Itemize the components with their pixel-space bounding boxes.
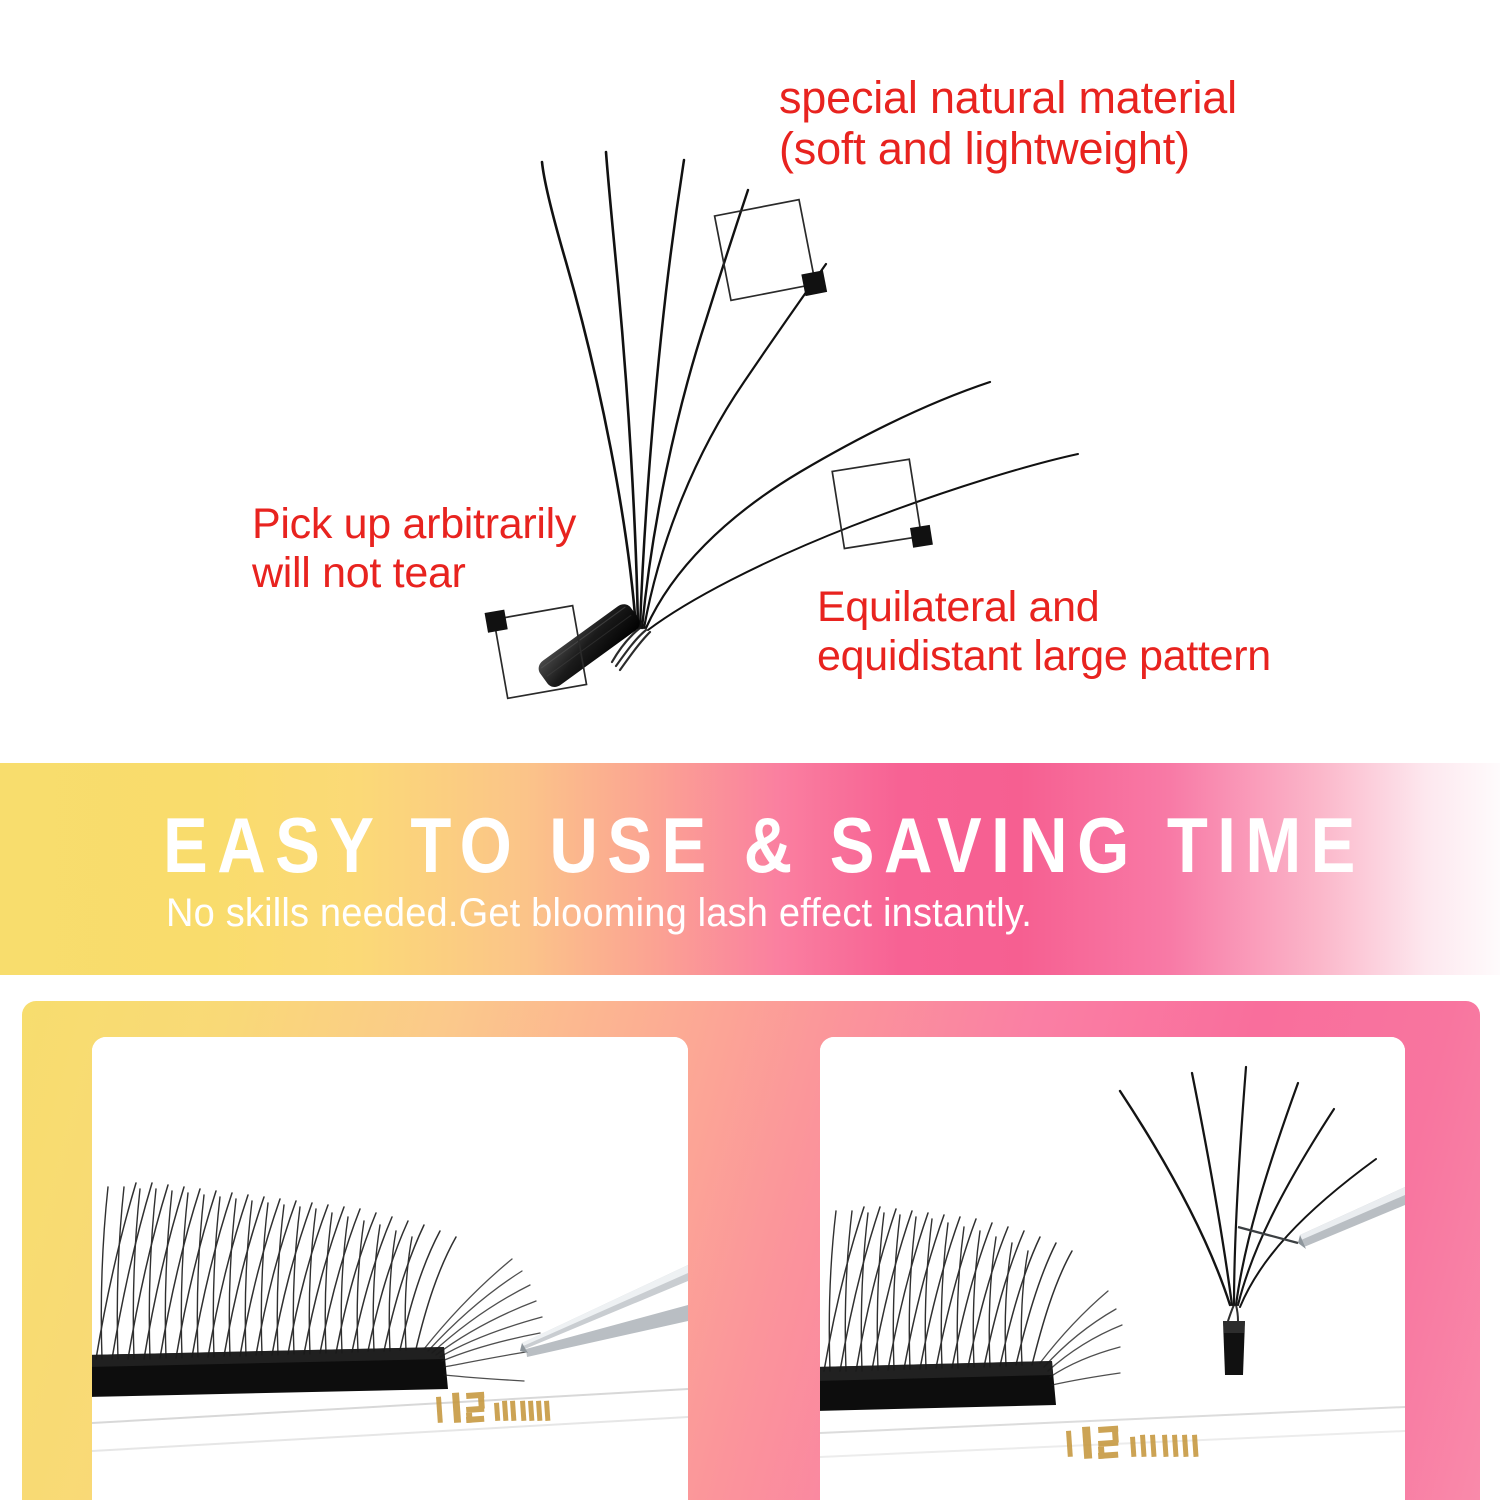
- photo-card-lash-tray-with-tweezers: [92, 1037, 688, 1500]
- lash-fan-illustration: [0, 0, 1500, 763]
- hero-section: special natural material (soft and light…: [0, 0, 1500, 763]
- banner-title: EASY TO USE & SAVING TIME: [163, 806, 1238, 884]
- callout-equilateral-equidistant: Equilateral and equidistant large patter…: [817, 583, 1271, 681]
- marker-square-middle: [832, 458, 933, 559]
- callout-special-natural-material: special natural material (soft and light…: [779, 72, 1237, 175]
- lash-tray-photo-right: [820, 1037, 1405, 1500]
- marker-square-top: [715, 198, 828, 311]
- callout-pick-up-arbitrarily: Pick up arbitrarily will not tear: [252, 500, 576, 598]
- photo-card-lash-fan-lifted: [820, 1037, 1405, 1500]
- banner-subtitle: No skills needed.Get blooming lash effec…: [166, 893, 1032, 933]
- product-photo-panel: [22, 1001, 1480, 1500]
- lash-tray-photo-left: [92, 1037, 688, 1500]
